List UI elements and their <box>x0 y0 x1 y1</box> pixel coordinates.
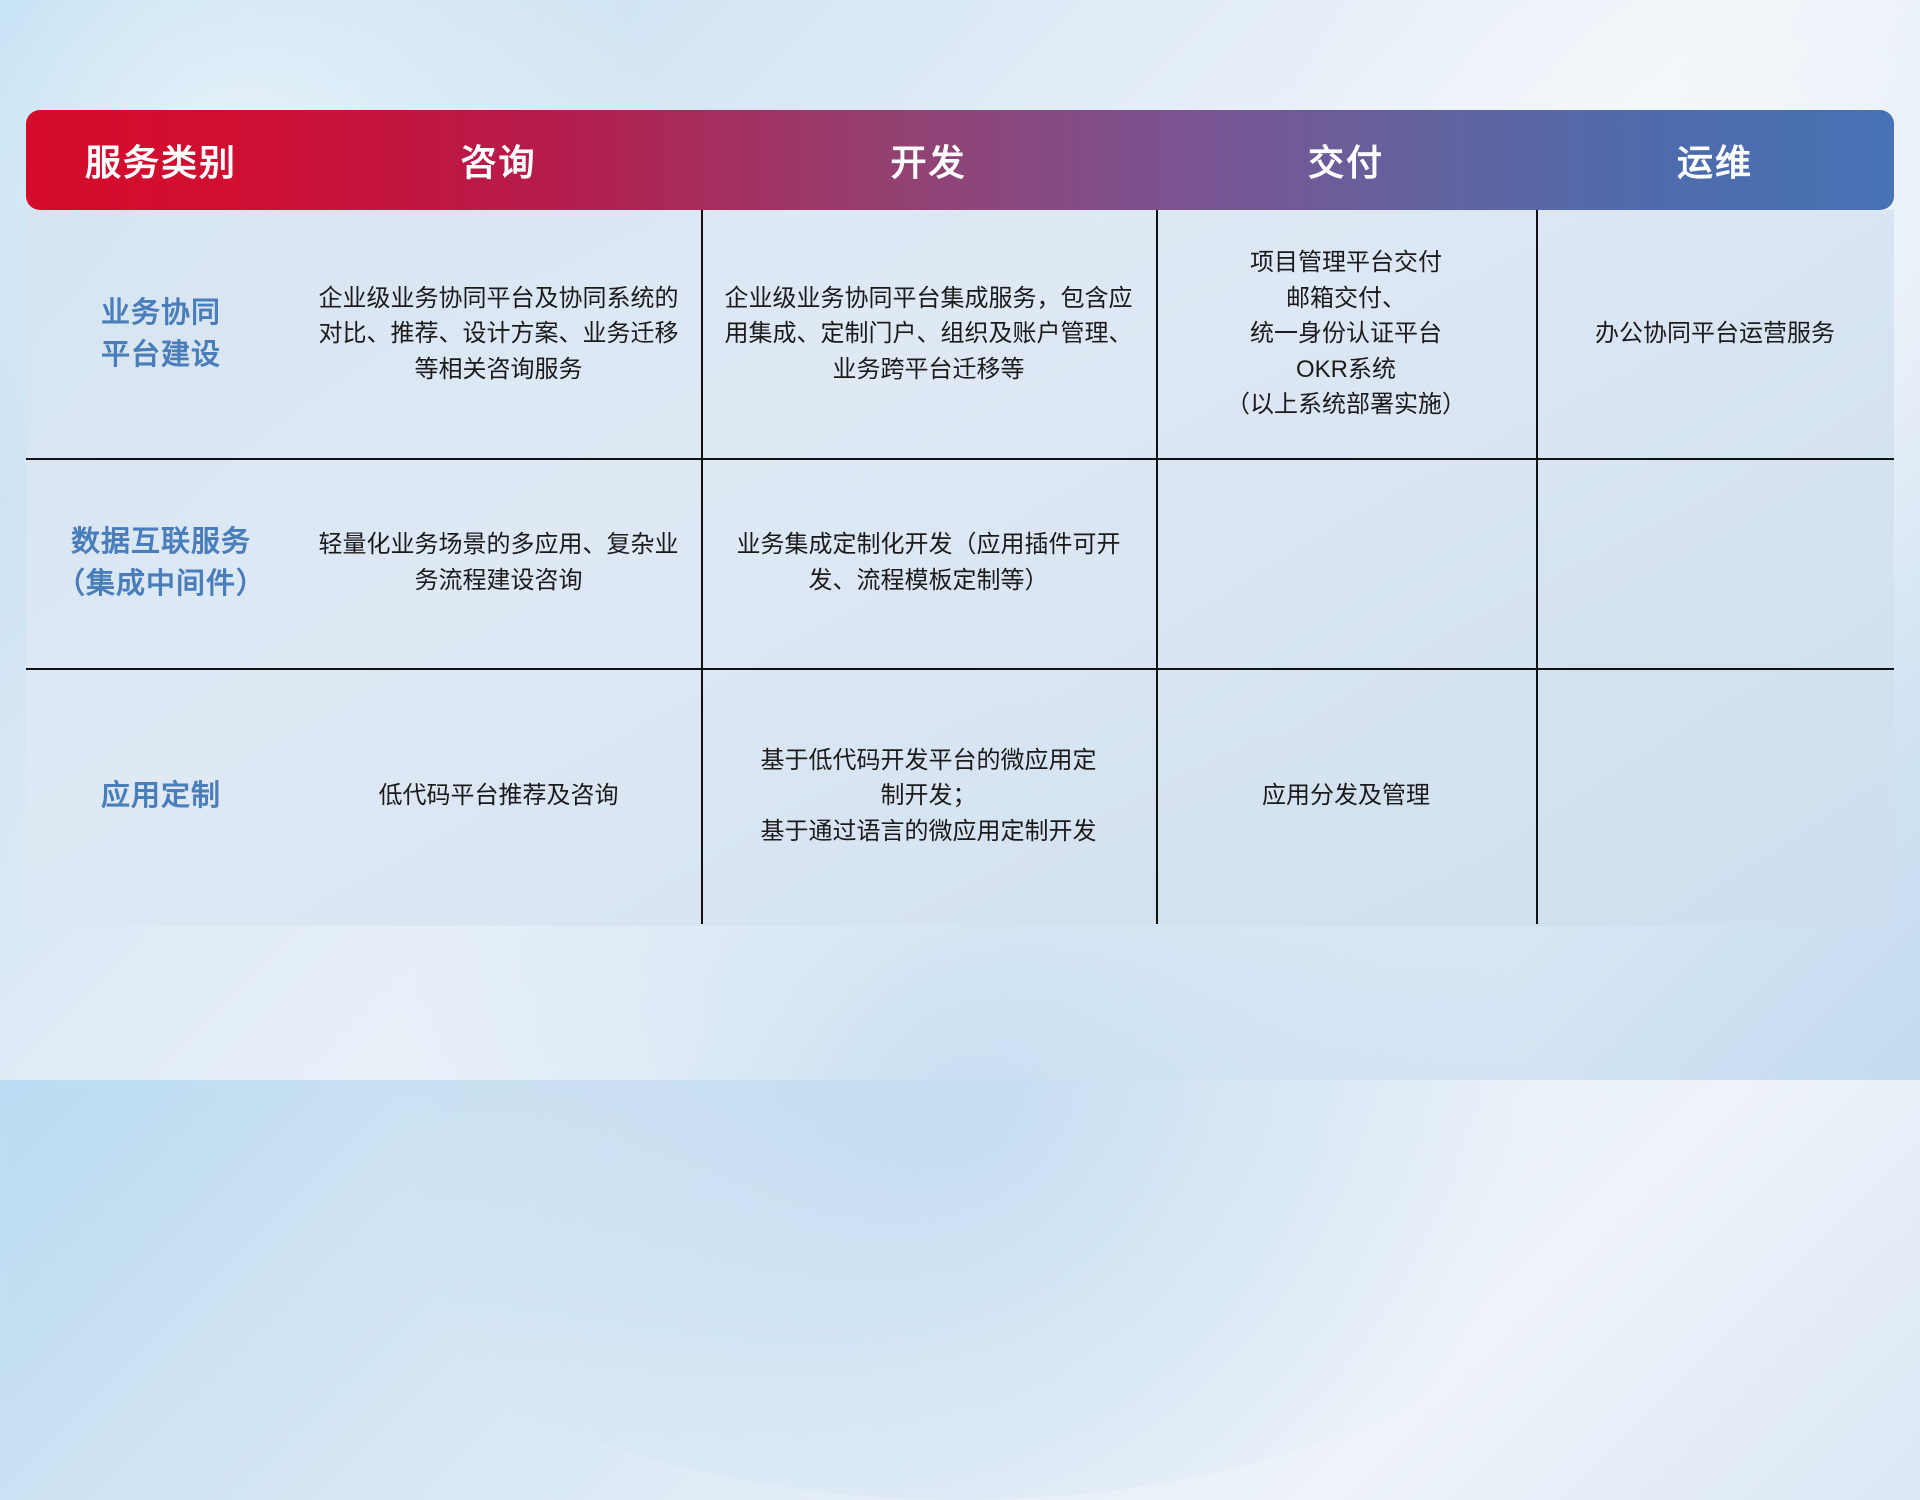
cell-text: 轻量化业务场景的多应用、复杂业务流程建设咨询 <box>312 527 685 598</box>
table-header: 服务类别 咨询 开发 交付 运维 <box>26 110 1894 210</box>
cell-consulting-row3: 低代码平台推荐及咨询 <box>296 668 701 924</box>
column-header-label: 开发 <box>890 142 966 183</box>
cell-delivery-row2 <box>1156 458 1536 668</box>
cell-delivery-row1: 项目管理平台交付 邮箱交付、 统一身份认证平台 OKR系统 （以上系统部署实施） <box>1156 210 1536 458</box>
cell-development-row3: 基于低代码开发平台的微应用定 制开发； 基于通过语言的微应用定制开发 <box>701 668 1156 924</box>
cell-delivery-row3: 应用分发及管理 <box>1156 668 1536 924</box>
column-header-service-category: 服务类别 <box>26 110 296 210</box>
row-label-cell-business-collaboration: 业务协同 平台建设 <box>26 210 296 458</box>
cell-consulting-row2: 轻量化业务场景的多应用、复杂业务流程建设咨询 <box>296 458 701 668</box>
table-body: 业务协同 平台建设 企业级业务协同平台及协同系统的对比、推荐、设计方案、业务迁移… <box>26 210 1894 924</box>
cell-text: 业务集成定制化开发（应用插件可开发、流程模板定制等） <box>717 527 1140 598</box>
row-label-line: 数据互联服务 <box>42 521 280 563</box>
cell-operations-row3 <box>1536 668 1894 924</box>
table-header-row: 服务类别 咨询 开发 交付 运维 <box>26 110 1894 210</box>
service-matrix-table: 服务类别 咨询 开发 交付 运维 业务协同 <box>26 110 1894 924</box>
cell-text-line: 基于通过语言的微应用定制开发 <box>717 814 1140 850</box>
cell-development-row2: 业务集成定制化开发（应用插件可开发、流程模板定制等） <box>701 458 1156 668</box>
cell-text-line: 邮箱交付、 <box>1172 281 1520 317</box>
cell-text: 企业级业务协同平台集成服务，包含应用集成、定制门户、组织及账户管理、业务跨平台迁… <box>717 281 1140 388</box>
cell-text-line: 统一身份认证平台 <box>1172 316 1520 352</box>
table-row: 业务协同 平台建设 企业级业务协同平台及协同系统的对比、推荐、设计方案、业务迁移… <box>26 210 1894 458</box>
table-row: 应用定制 低代码平台推荐及咨询 基于低代码开发平台的微应用定 制开发； 基于通过… <box>26 668 1894 924</box>
service-matrix-table-wrapper: 服务类别 咨询 开发 交付 运维 业务协同 <box>26 110 1894 950</box>
column-header-consulting: 咨询 <box>296 110 701 210</box>
column-header-label: 服务类别 <box>85 142 237 183</box>
column-header-operations: 运维 <box>1536 110 1894 210</box>
column-header-label: 咨询 <box>460 142 536 183</box>
cell-text: 企业级业务协同平台及协同系统的对比、推荐、设计方案、业务迁移等相关咨询服务 <box>312 281 685 388</box>
cell-text-line: 项目管理平台交付 <box>1172 245 1520 281</box>
column-header-label: 运维 <box>1677 142 1753 183</box>
table-row: 数据互联服务 （集成中间件） 轻量化业务场景的多应用、复杂业务流程建设咨询 业务… <box>26 458 1894 668</box>
row-label-line: 平台建设 <box>42 334 280 376</box>
cell-development-row1: 企业级业务协同平台集成服务，包含应用集成、定制门户、组织及账户管理、业务跨平台迁… <box>701 210 1156 458</box>
cell-text-line: OKR系统 <box>1172 352 1520 388</box>
row-label-cell-data-interconnect: 数据互联服务 （集成中间件） <box>26 458 296 668</box>
cell-consulting-row1: 企业级业务协同平台及协同系统的对比、推荐、设计方案、业务迁移等相关咨询服务 <box>296 210 701 458</box>
cell-text: 低代码平台推荐及咨询 <box>312 778 685 814</box>
cell-operations-row1: 办公协同平台运营服务 <box>1536 210 1894 458</box>
cell-text-line: （以上系统部署实施） <box>1172 387 1520 423</box>
row-label-cell-application-customization: 应用定制 <box>26 668 296 924</box>
cell-text: 应用分发及管理 <box>1172 778 1520 814</box>
cell-text-line: 制开发； <box>717 778 1140 814</box>
cell-text: 办公协同平台运营服务 <box>1552 316 1878 352</box>
column-header-delivery: 交付 <box>1156 110 1536 210</box>
row-label-line: 业务协同 <box>42 292 280 334</box>
column-header-development: 开发 <box>701 110 1156 210</box>
cell-text-line: 基于低代码开发平台的微应用定 <box>717 743 1140 779</box>
cell-operations-row2 <box>1536 458 1894 668</box>
row-label-line: （集成中间件） <box>42 563 280 605</box>
row-label-line: 应用定制 <box>42 775 280 817</box>
column-header-label: 交付 <box>1308 142 1384 183</box>
